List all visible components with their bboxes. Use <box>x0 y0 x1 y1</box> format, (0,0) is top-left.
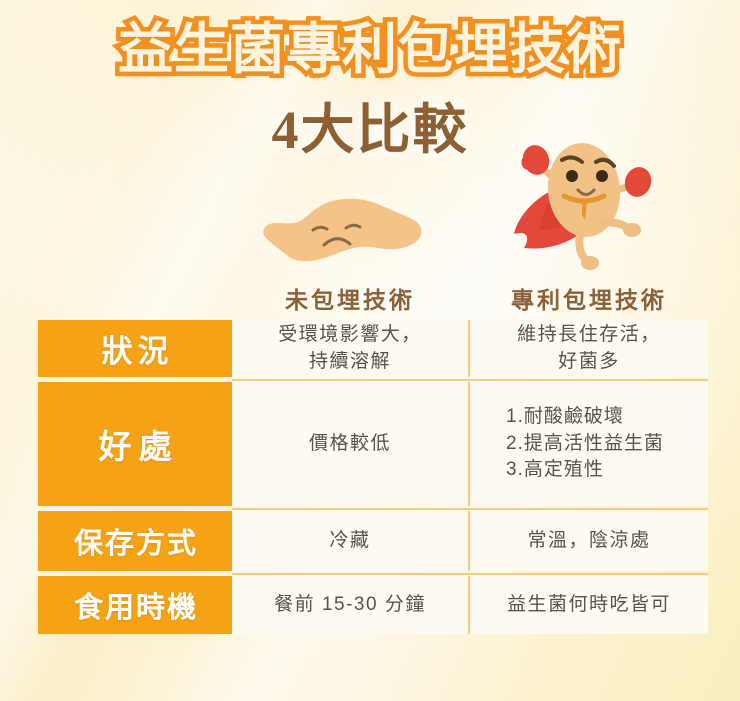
cell-uncoated-status: 受環境影響大，持續溶解 <box>232 320 470 377</box>
column-header-uncoated: 未包埋技術 <box>232 281 468 315</box>
list-item: 1.耐酸鹼破壞 <box>506 404 664 431</box>
row-label-timing: 食用時機 <box>38 576 232 634</box>
row-label-storage: 保存方式 <box>38 511 232 571</box>
row-label-status: 狀況 <box>38 320 232 377</box>
infographic-poster: 益生菌專利包埋技術 4大比較 <box>0 0 740 701</box>
page-subtitle: 4大比較 <box>0 85 740 164</box>
page-title: 益生菌專利包埋技術 <box>0 20 740 79</box>
table-row: 好處 價格較低 1.耐酸鹼破壞 2.提高活性益生菌 3.高定殖性 <box>38 382 708 506</box>
table-row: 保存方式 冷藏 常溫，陰涼處 <box>38 511 708 571</box>
cell-uncoated-benefits: 價格較低 <box>232 382 470 506</box>
melted-probiotic-mascot <box>258 192 428 277</box>
column-header-coated: 專利包埋技術 <box>470 281 708 315</box>
cell-coated-status: 維持長住存活，好菌多 <box>470 320 708 377</box>
cell-coated-timing: 益生菌何時吃皆可 <box>470 576 708 634</box>
table-row: 狀況 受環境影響大，持續溶解 維持長住存活，好菌多 <box>38 320 708 377</box>
column-headers: 未包埋技術 專利包埋技術 <box>0 281 740 315</box>
cell-coated-storage: 常溫，陰涼處 <box>470 511 708 571</box>
list-item: 2.提高活性益生菌 <box>506 431 664 458</box>
list-item: 3.高定殖性 <box>506 457 664 484</box>
row-label-benefits: 好處 <box>38 382 232 506</box>
cell-uncoated-storage: 冷藏 <box>232 511 470 571</box>
title-block: 益生菌專利包埋技術 4大比較 <box>0 20 740 164</box>
comparison-table: 狀況 受環境影響大，持續溶解 維持長住存活，好菌多 好處 價格較低 1.耐酸鹼破… <box>38 320 708 634</box>
cell-uncoated-timing: 餐前 15-30 分鐘 <box>232 576 470 634</box>
cell-coated-benefits: 1.耐酸鹼破壞 2.提高活性益生菌 3.高定殖性 <box>470 382 708 506</box>
table-row: 食用時機 餐前 15-30 分鐘 益生菌何時吃皆可 <box>38 576 708 634</box>
